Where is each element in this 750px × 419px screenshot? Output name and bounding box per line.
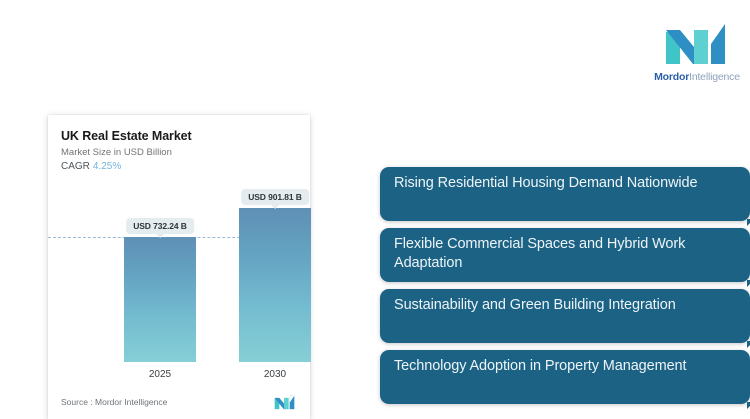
bar-value-label-2030: USD 901.81 B [241, 189, 309, 205]
driver-label: Sustainability and Green Building Integr… [394, 296, 738, 315]
bar-2030 [239, 208, 311, 362]
brand-name-light: Intelligence [689, 71, 740, 83]
cagr-row: CAGR4.25% [61, 161, 121, 172]
chart-subtitle: Market Size in USD Billion [61, 147, 172, 158]
brand-name-bold: Mordor [654, 71, 689, 83]
brand-wordmark: MordorIntelligence [654, 72, 740, 83]
driver-label: Rising Residential Housing Demand Nation… [394, 174, 738, 193]
chart-card: UK Real Estate Market Market Size in USD… [48, 115, 310, 419]
market-drivers-list: Rising Residential Housing Demand Nation… [380, 167, 750, 411]
chart-source-text: Source : Mordor Intelligence [61, 397, 167, 407]
list-item[interactable]: Flexible Commercial Spaces and Hybrid Wo… [380, 228, 750, 282]
mordor-m-mark-icon [664, 22, 730, 66]
driver-label: Flexible Commercial Spaces and Hybrid Wo… [394, 235, 738, 273]
plot-area: USD 732.24 B USD 901.81 B 2025 2030 [48, 190, 310, 385]
list-item[interactable]: Sustainability and Green Building Integr… [380, 289, 750, 343]
brand-logo: MordorIntelligence [652, 8, 742, 96]
bar-value-label-2025: USD 732.24 B [126, 218, 194, 234]
cagr-label: CAGR [61, 161, 90, 172]
bar-2025 [124, 237, 196, 362]
list-item[interactable]: Technology Adoption in Property Manageme… [380, 350, 750, 404]
x-axis-tick-2030: 2030 [264, 369, 286, 380]
chart-title: UK Real Estate Market [61, 129, 192, 143]
cagr-value: 4.25% [93, 161, 121, 172]
mordor-m-mark-icon-footer [274, 395, 296, 410]
x-axis-tick-2025: 2025 [149, 369, 171, 380]
list-item[interactable]: Rising Residential Housing Demand Nation… [380, 167, 750, 221]
driver-label: Technology Adoption in Property Manageme… [394, 357, 738, 376]
